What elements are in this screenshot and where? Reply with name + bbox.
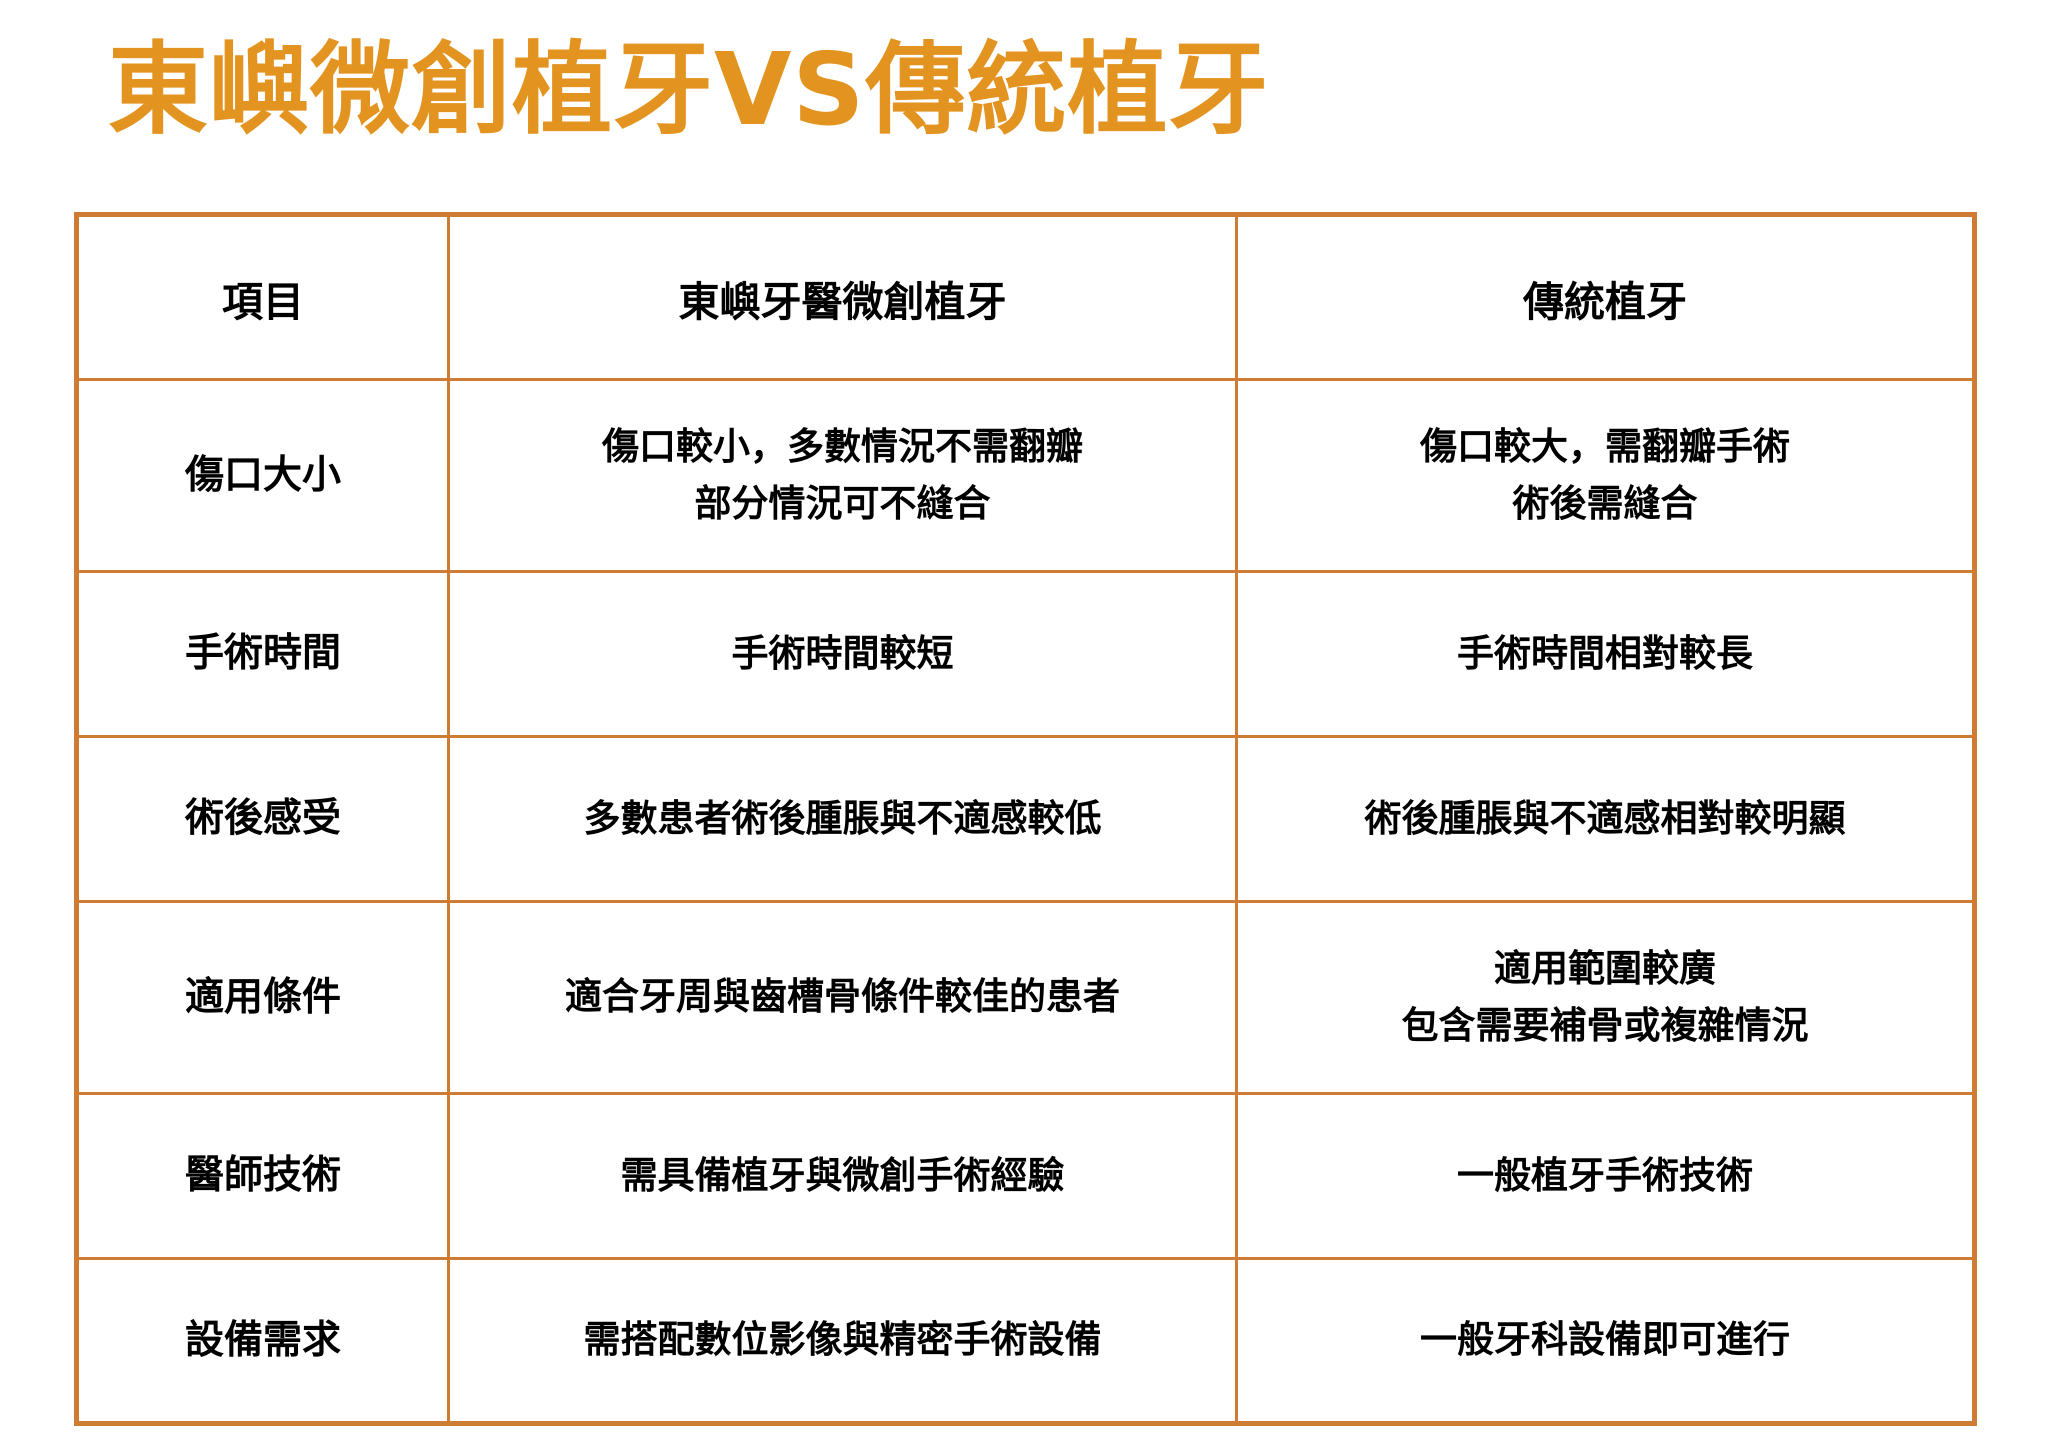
cell-line: 手術時間較短 [460,626,1225,682]
column-header-traditional: 傳統植牙 [1237,215,1975,380]
table-header: 項目 東嶼牙醫微創植牙 傳統植牙 [77,215,1975,380]
cell-traditional: 傷口較大，需翻瓣手術 術後需縫合 [1237,380,1975,572]
cell-line: 一般牙科設備即可進行 [1248,1312,1962,1368]
row-label: 適用條件 [77,902,449,1094]
cell-traditional: 一般植牙手術技術 [1237,1094,1975,1259]
table-row: 適用條件 適合牙周與齒槽骨條件較佳的患者 適用範圍較廣 包含需要補骨或複雜情況 [77,902,1975,1094]
table-row: 醫師技術 需具備植牙與微創手術經驗 一般植牙手術技術 [77,1094,1975,1259]
cell-line: 術後需縫合 [1248,476,1962,532]
table-row: 手術時間 手術時間較短 手術時間相對較長 [77,572,1975,737]
comparison-infographic: 東嶼微創植牙VS傳統植牙 項目 東嶼牙醫微創植牙 傳統植牙 傷口大小 傷口較小，… [0,0,2048,1440]
cell-line: 適合牙周與齒槽骨條件較佳的患者 [460,969,1225,1025]
page-title: 東嶼微創植牙VS傳統植牙 [108,28,1269,152]
cell-micro: 傷口較小，多數情況不需翻瓣 部分情況可不縫合 [449,380,1237,572]
cell-line: 部分情況可不縫合 [460,476,1225,532]
cell-line: 一般植牙手術技術 [1248,1148,1962,1204]
table-row: 術後感受 多數患者術後腫脹與不適感較低 術後腫脹與不適感相對較明顯 [77,737,1975,902]
cell-line: 傷口較大，需翻瓣手術 [1248,419,1962,475]
row-label: 傷口大小 [77,380,449,572]
cell-line: 多數患者術後腫脹與不適感較低 [460,791,1225,847]
table-header-row: 項目 東嶼牙醫微創植牙 傳統植牙 [77,215,1975,380]
row-label: 設備需求 [77,1259,449,1424]
cell-line: 需具備植牙與微創手術經驗 [460,1148,1225,1204]
cell-line: 包含需要補骨或複雜情況 [1248,998,1962,1054]
cell-micro: 適合牙周與齒槽骨條件較佳的患者 [449,902,1237,1094]
cell-traditional: 術後腫脹與不適感相對較明顯 [1237,737,1975,902]
column-header-item: 項目 [77,215,449,380]
cell-line: 適用範圍較廣 [1248,941,1962,997]
row-label: 醫師技術 [77,1094,449,1259]
cell-line: 術後腫脹與不適感相對較明顯 [1248,791,1962,847]
cell-line: 需搭配數位影像與精密手術設備 [460,1312,1225,1368]
cell-traditional: 適用範圍較廣 包含需要補骨或複雜情況 [1237,902,1975,1094]
cell-micro: 需具備植牙與微創手術經驗 [449,1094,1237,1259]
cell-micro: 多數患者術後腫脹與不適感較低 [449,737,1237,902]
cell-line: 手術時間相對較長 [1248,626,1962,682]
comparison-table: 項目 東嶼牙醫微創植牙 傳統植牙 傷口大小 傷口較小，多數情況不需翻瓣 部分情況… [74,212,1977,1426]
row-label: 手術時間 [77,572,449,737]
cell-micro: 需搭配數位影像與精密手術設備 [449,1259,1237,1424]
column-header-micro: 東嶼牙醫微創植牙 [449,215,1237,380]
table-body: 傷口大小 傷口較小，多數情況不需翻瓣 部分情況可不縫合 傷口較大，需翻瓣手術 術… [77,380,1975,1424]
table-row: 設備需求 需搭配數位影像與精密手術設備 一般牙科設備即可進行 [77,1259,1975,1424]
cell-micro: 手術時間較短 [449,572,1237,737]
cell-traditional: 手術時間相對較長 [1237,572,1975,737]
table-row: 傷口大小 傷口較小，多數情況不需翻瓣 部分情況可不縫合 傷口較大，需翻瓣手術 術… [77,380,1975,572]
cell-line: 傷口較小，多數情況不需翻瓣 [460,419,1225,475]
row-label: 術後感受 [77,737,449,902]
cell-traditional: 一般牙科設備即可進行 [1237,1259,1975,1424]
